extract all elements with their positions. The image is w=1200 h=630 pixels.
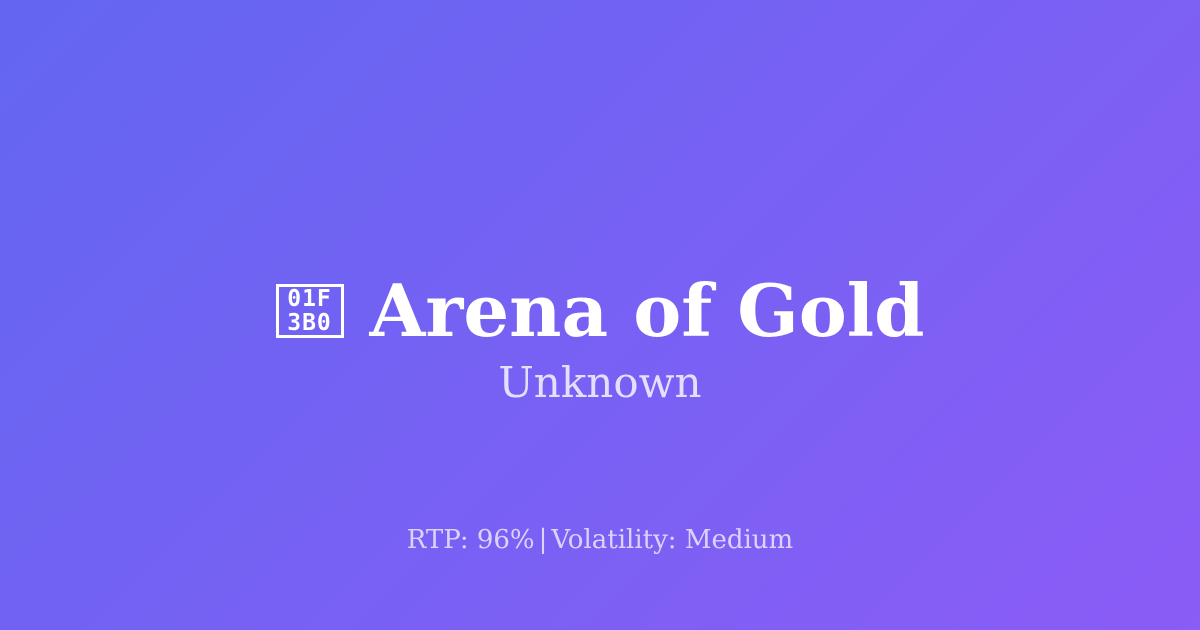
slot-machine-icon-codepoint-top: 01F [287, 287, 332, 311]
provider-label: Unknown [0, 362, 1200, 404]
slot-machine-icon-codepoint-bottom: 3B0 [287, 311, 332, 335]
game-stats: RTP: 96%|Volatility: Medium [0, 527, 1200, 553]
rtp-value: RTP: 96% [407, 525, 535, 555]
game-promo-card: 01F 3B0 Arena of Gold Unknown RTP: 96%|V… [0, 0, 1200, 630]
page-title: Arena of Gold [370, 275, 925, 347]
volatility-value: Volatility: Medium [551, 525, 793, 555]
slot-machine-icon: 01F 3B0 [276, 284, 344, 338]
stats-separator: | [535, 525, 552, 555]
